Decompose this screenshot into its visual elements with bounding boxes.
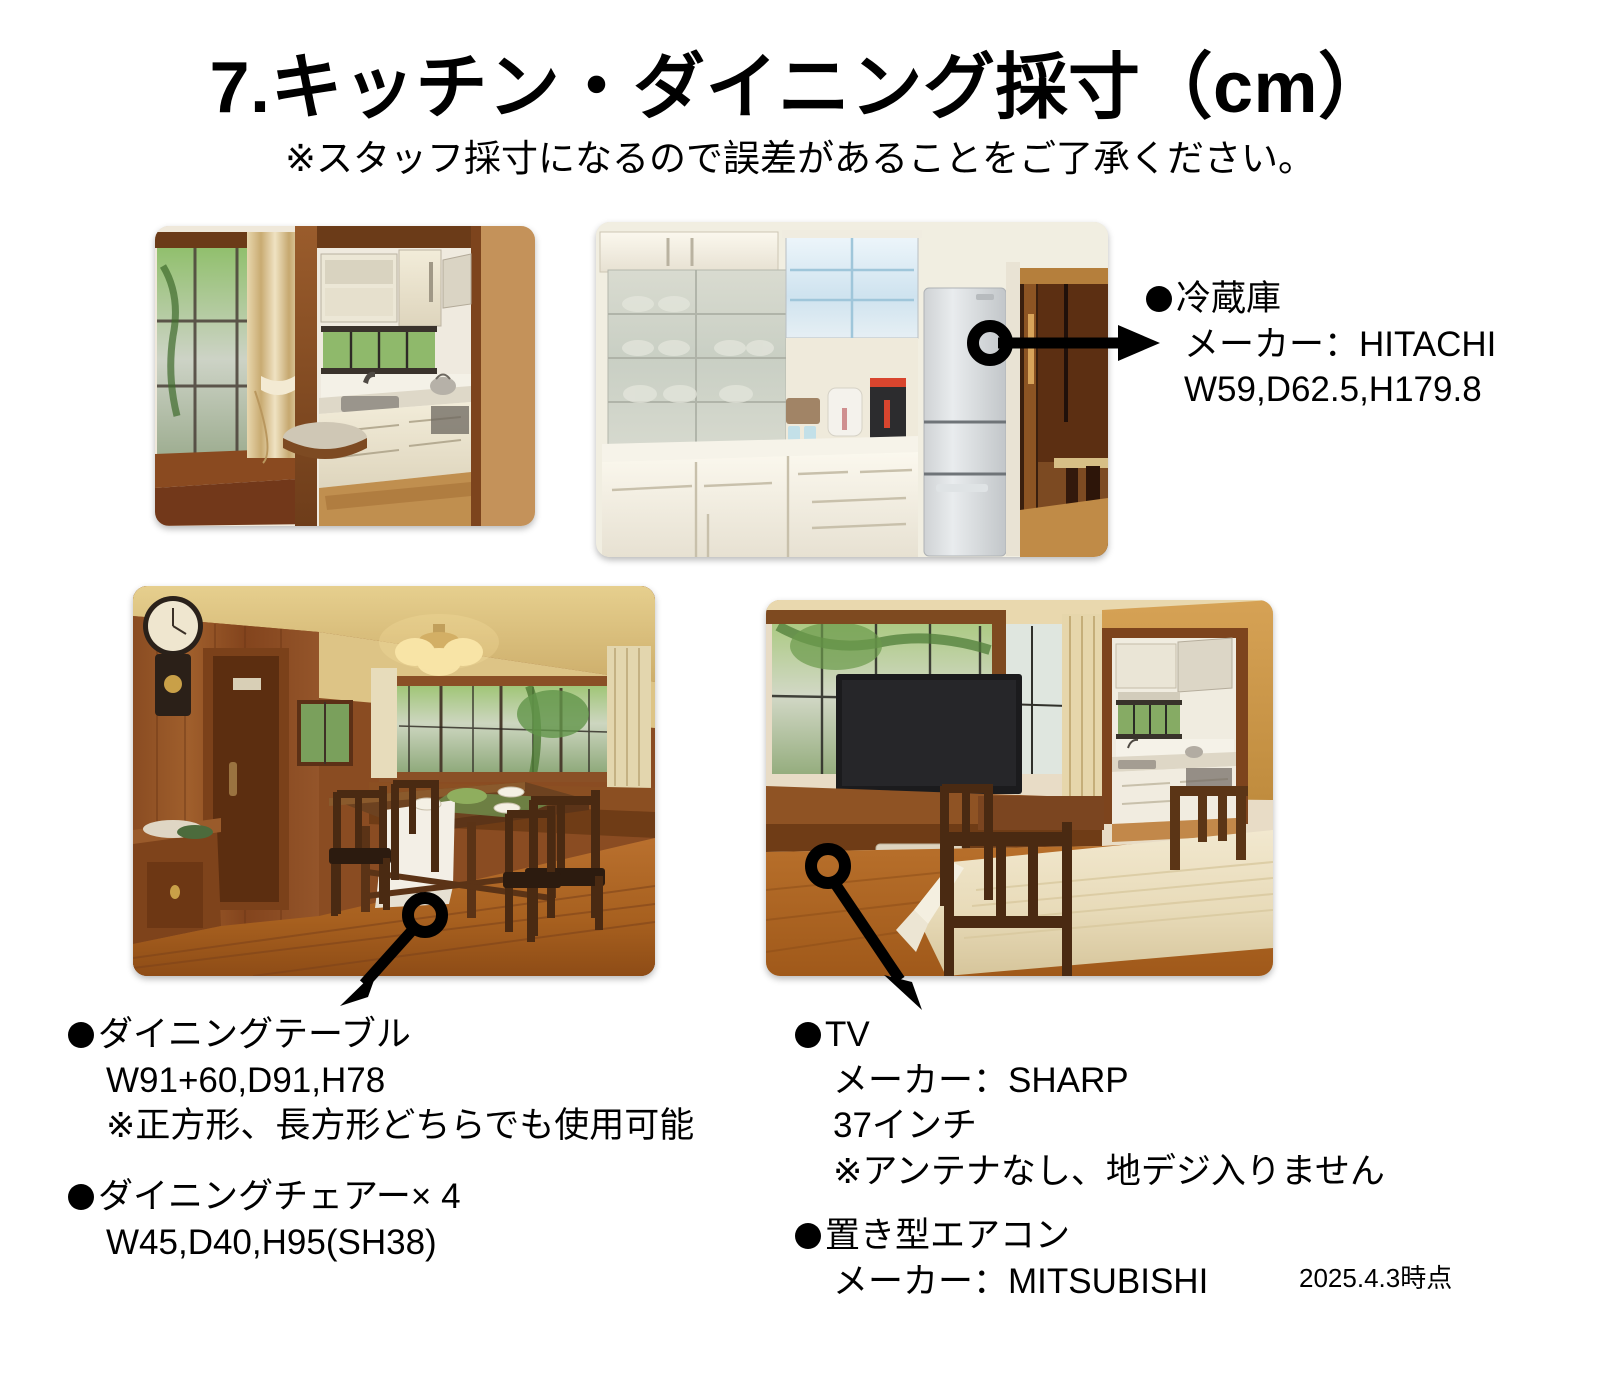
photo-dining-room — [133, 586, 655, 976]
annotation-dining-table: ダイニングテーブル W91+60,D91,H78 ※正方形、長方形どちらでも使用… — [68, 1012, 694, 1149]
annotation-dining-chair-dimensions: W45,D40,H95(SH38) — [68, 1220, 461, 1266]
bullet-icon — [1146, 286, 1172, 312]
annotation-refrigerator: 冷蔵庫 メーカー：HITACHI W59,D62.5,H179.8 — [1146, 276, 1496, 413]
annotation-tv: TV メーカー：SHARP 37インチ ※アンテナなし、地デジ入りません — [795, 1012, 1385, 1194]
annotation-dining-chair-title-line: ダイニングチェアー× 4 — [68, 1174, 461, 1220]
page-title: 7.キッチン・ダイニング採寸（cm） — [0, 52, 1600, 124]
annotation-aircon: 置き型エアコン メーカー：MITSUBISHI — [795, 1213, 1208, 1304]
annotation-dining-table-title-line: ダイニングテーブル — [68, 1012, 694, 1058]
annotation-refrigerator-title: 冷蔵庫 — [1176, 279, 1281, 318]
annotation-aircon-maker: メーカー：MITSUBISHI — [795, 1259, 1208, 1305]
photo-tv-dining-scene — [766, 600, 1273, 976]
photo-tv-dining — [766, 600, 1273, 976]
annotation-tv-note: ※アンテナなし、地デジ入りません — [795, 1149, 1385, 1195]
annotation-dining-table-note: ※正方形、長方形どちらでも使用可能 — [68, 1103, 694, 1149]
annotation-refrigerator-dimensions: W59,D62.5,H179.8 — [1146, 367, 1496, 413]
photo-kitchen-view — [155, 226, 535, 526]
annotation-dining-table-dimensions: W91+60,D91,H78 — [68, 1058, 694, 1104]
annotation-dining-table-title: ダイニングテーブル — [98, 1015, 411, 1054]
bullet-icon — [68, 1022, 94, 1048]
annotation-dining-chair: ダイニングチェアー× 4 W45,D40,H95(SH38) — [68, 1174, 461, 1265]
annotation-tv-size: 37インチ — [795, 1103, 1385, 1149]
photo-dining-room-scene — [133, 586, 655, 976]
annotation-tv-title-line: TV — [795, 1012, 1385, 1058]
timestamp-label: 2025.4.3時点 — [1299, 1258, 1452, 1295]
annotation-refrigerator-title-line: 冷蔵庫 — [1146, 276, 1496, 322]
bullet-icon — [795, 1223, 821, 1249]
annotation-aircon-title: 置き型エアコン — [825, 1216, 1070, 1255]
annotation-tv-maker: メーカー：SHARP — [795, 1058, 1385, 1104]
annotation-tv-title: TV — [825, 1015, 870, 1054]
cupboard-fridge-illustration — [596, 222, 1108, 557]
annotation-dining-chair-title: ダイニングチェアー× 4 — [98, 1177, 461, 1216]
tv-dining-illustration — [766, 600, 1273, 976]
photo-cupboard-fridge — [596, 222, 1108, 557]
photo-cupboard-fridge-scene — [596, 222, 1108, 557]
dining-room-illustration — [133, 586, 655, 976]
page-subtitle-note: ※スタッフ採寸になるので誤差があることをご了承ください。 — [0, 140, 1600, 177]
annotation-refrigerator-maker: メーカー：HITACHI — [1146, 322, 1496, 368]
photo-kitchen-view-scene — [155, 226, 535, 526]
bullet-icon — [68, 1184, 94, 1210]
annotation-aircon-title-line: 置き型エアコン — [795, 1213, 1208, 1259]
bullet-icon — [795, 1022, 821, 1048]
page-root: 7.キッチン・ダイニング採寸（cm） ※スタッフ採寸になるので誤差があることをご… — [0, 0, 1600, 1383]
kitchen-view-illustration — [155, 226, 535, 526]
